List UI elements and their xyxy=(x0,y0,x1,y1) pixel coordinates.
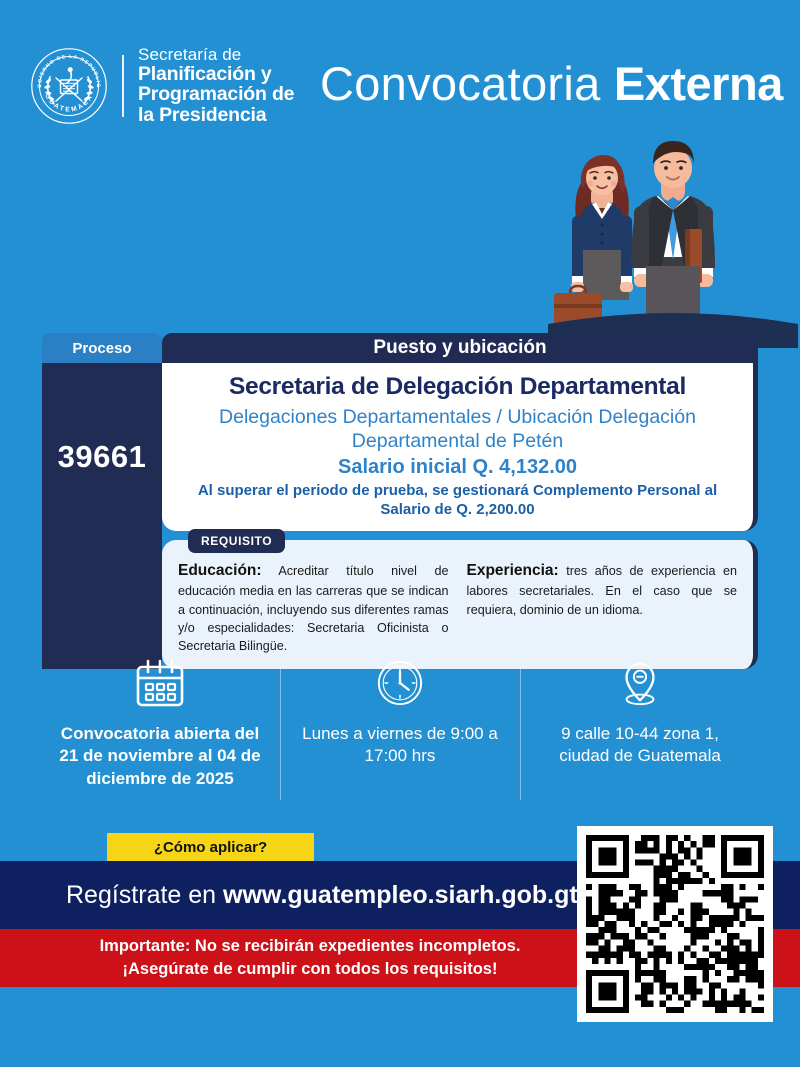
institutional-header: GOBIERNO DE LA REPUBLICA GUATEMALA xyxy=(30,46,294,125)
requirements-wrapper: REQUISITO Educación: Acreditar título ni… xyxy=(162,540,758,669)
job-details-column: Secretaria de Delegación Departamental D… xyxy=(162,363,758,669)
clock-icon xyxy=(375,655,425,711)
job-salary: Salario inicial Q. 4,132.00 xyxy=(176,456,739,479)
column-header-proceso: Proceso xyxy=(42,333,162,363)
woman-figure xyxy=(554,155,633,327)
job-card: Proceso Puesto y ubicación 39661 Secreta… xyxy=(42,333,758,669)
brand-line-3: Programación de xyxy=(138,84,294,104)
man-figure xyxy=(631,141,715,328)
page-title: Convocatoria Externa xyxy=(320,56,783,111)
two-business-professionals-illustration xyxy=(548,128,798,348)
info-column-hours: Lunes a viernes de 9:00 a 17:00 hrs xyxy=(280,655,520,790)
process-number-column: 39661 xyxy=(42,363,162,669)
info-text-hours: Lunes a viernes de 9:00 a 17:00 hrs xyxy=(295,723,505,768)
poster-root: GOBIERNO DE LA REPUBLICA GUATEMALA xyxy=(0,0,800,1067)
info-text-dates: Convocatoria abierta del 21 de noviembre… xyxy=(55,723,265,790)
svg-text:GUATEMALA: GUATEMALA xyxy=(43,92,95,113)
qr-code[interactable] xyxy=(577,826,773,1022)
info-text-address: 9 calle 10-44 zona 1, ciudad de Guatemal… xyxy=(535,723,745,768)
how-to-apply-button[interactable]: ¿Cómo aplicar? xyxy=(107,833,314,861)
column-header-puesto: Puesto y ubicación xyxy=(162,333,758,363)
warning-text: Importante: No se recibirán expedientes … xyxy=(40,935,580,982)
experience-requirement: Experiencia: tres años de experiencia en… xyxy=(467,560,738,655)
info-column-dates: Convocatoria abierta del 21 de noviembre… xyxy=(40,655,280,790)
requirements-panel: Educación: Acreditar título nivel de edu… xyxy=(162,540,758,669)
register-prefix: Regístrate en xyxy=(66,881,223,909)
brand-line-4: la Presidencia xyxy=(138,105,294,125)
education-requirement: Educación: Acreditar título nivel de edu… xyxy=(178,560,449,655)
warning-line-2: ¡Asegúrate de cumplir con todos los requ… xyxy=(123,960,498,978)
guatemala-national-seal-icon: GOBIERNO DE LA REPUBLICA GUATEMALA xyxy=(30,47,108,125)
institution-name: Secretaría de Planificación y Programaci… xyxy=(138,46,294,125)
page-title-thin: Convocatoria xyxy=(320,57,601,110)
page-title-bold: Externa xyxy=(614,57,783,110)
job-title: Secretaria de Delegación Departamental xyxy=(176,373,739,402)
location-pin-icon xyxy=(615,655,665,711)
requisito-badge: REQUISITO xyxy=(188,529,285,553)
job-summary-panel: Secretaria de Delegación Departamental D… xyxy=(162,363,758,531)
register-url[interactable]: www.guatempleo.siarh.gob.gt xyxy=(223,881,578,909)
card-header-row: Proceso Puesto y ubicación xyxy=(42,333,758,363)
info-column-address: 9 calle 10-44 zona 1, ciudad de Guatemal… xyxy=(520,655,760,790)
brand-line-1: Secretaría de xyxy=(138,46,294,64)
job-salary-note: Al superar el periodo de prueba, se gest… xyxy=(176,482,739,519)
header-divider xyxy=(122,55,124,117)
register-text: Regístrate en www.guatempleo.siarh.gob.g… xyxy=(66,881,578,910)
brand-line-2: Planificación y xyxy=(138,64,294,84)
experience-label: Experiencia: xyxy=(467,562,559,579)
warning-line-1: Importante: No se recibirán expedientes … xyxy=(100,937,521,955)
card-body: 39661 Secretaria de Delegación Departame… xyxy=(42,363,758,669)
info-row: Convocatoria abierta del 21 de noviembre… xyxy=(40,655,760,790)
calendar-icon xyxy=(134,655,186,711)
job-location: Delegaciones Departamentales / Ubicación… xyxy=(176,405,739,453)
process-number: 39661 xyxy=(58,439,147,475)
education-label: Educación: xyxy=(178,562,262,579)
